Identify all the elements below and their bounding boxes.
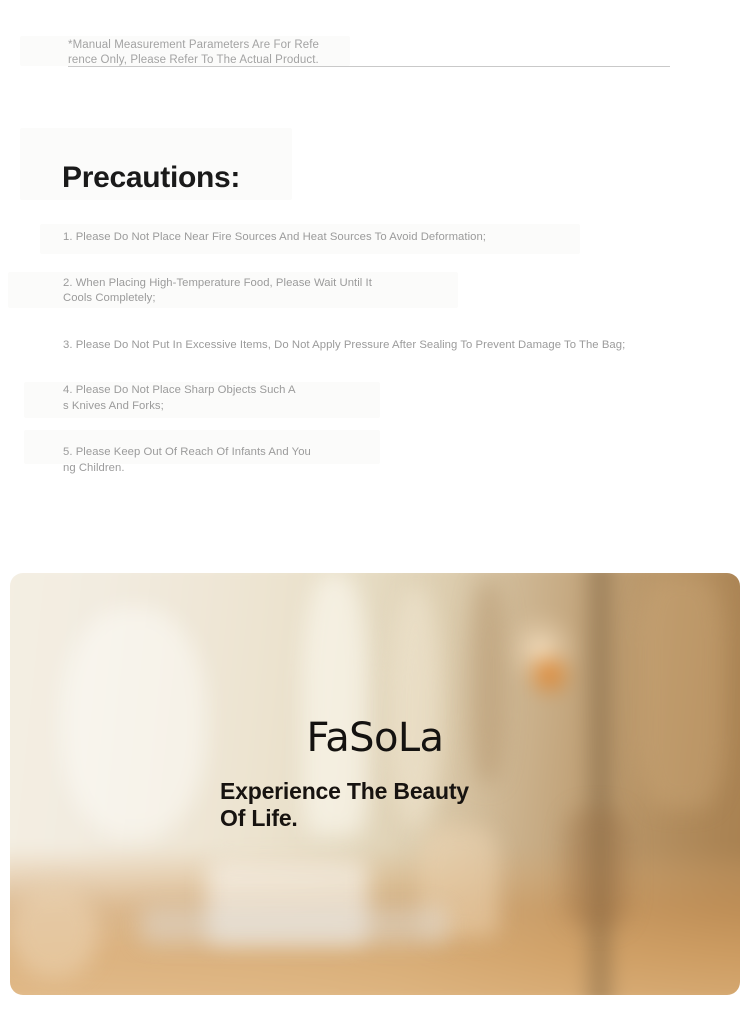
product-detail-page: *Manual Measurement Parameters Are For R… (0, 0, 750, 1012)
precaution-item: 3. Please Do Not Put In Excessive Items,… (63, 338, 703, 354)
measurement-disclaimer: *Manual Measurement Parameters Are For R… (68, 38, 668, 68)
precaution-item: 5. Please Keep Out Of Reach Of Infants A… (63, 445, 703, 476)
brand-banner: FaSoLa Experience The Beauty Of Life. (10, 573, 740, 995)
brand-logo: FaSoLa (10, 715, 740, 761)
precaution-item: 4. Please Do Not Place Sharp Objects Suc… (63, 383, 703, 414)
precautions-list: 1. Please Do Not Place Near Fire Sources… (63, 230, 703, 477)
section-divider (68, 66, 670, 67)
precaution-item: 2. When Placing High-Temperature Food, P… (63, 276, 703, 307)
precautions-heading: Precautions: (62, 161, 240, 195)
brand-tagline: Experience The Beauty Of Life. (220, 778, 469, 832)
precaution-item: 1. Please Do Not Place Near Fire Sources… (63, 230, 703, 246)
